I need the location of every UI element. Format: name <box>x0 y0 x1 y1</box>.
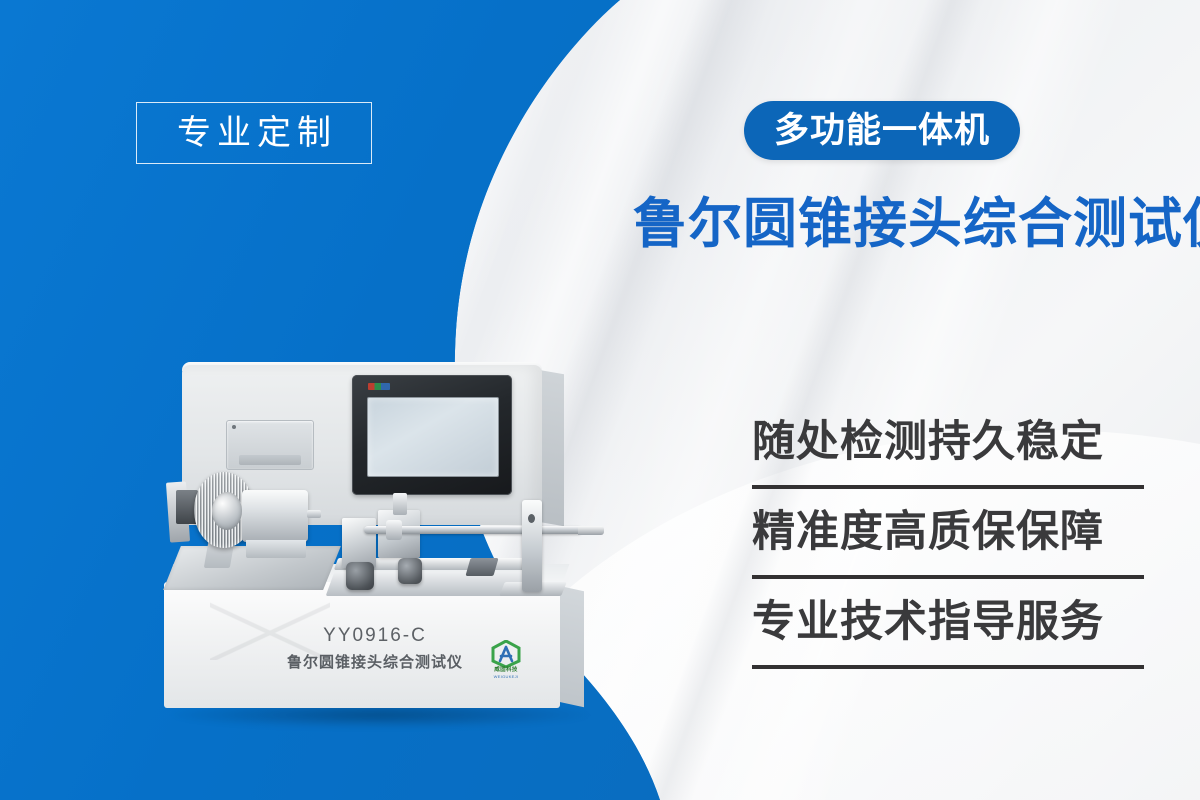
feature-item-label: 精准度高质保保障 <box>752 511 1104 554</box>
feature-list: 随处检测持久稳定 精准度高质保保障 专业技术指导服务 <box>752 399 1144 669</box>
feature-item-label: 随处检测持久稳定 <box>752 421 1104 464</box>
brand-logo-en-label: WEIGUKEJI <box>486 675 526 679</box>
page-title: 鲁尔圆锥接头综合测试仪 <box>633 196 1200 253</box>
dial-hub <box>212 492 242 530</box>
shaft-collar <box>386 520 402 540</box>
product-model-name: 鲁尔圆锥接头综合测试仪 <box>245 655 505 670</box>
clamp-post <box>393 493 407 515</box>
multifunction-pill-label: 多功能一体机 <box>774 113 990 148</box>
custom-made-badge-label: 专业定制 <box>171 116 337 150</box>
feature-item: 随处检测持久稳定 <box>752 399 1144 489</box>
slider-block <box>465 558 498 576</box>
motor-housing <box>242 490 308 542</box>
product-image: YY0916-C 鲁尔圆锥接头综合测试仪 威固科技 WEIGUKEJI <box>150 350 690 770</box>
hmi-screen-display <box>367 397 499 477</box>
brand-logo-cn-label: 威固科技 <box>486 668 526 674</box>
multifunction-pill-badge: 多功能一体机 <box>744 101 1020 160</box>
motor-mount-leg <box>246 540 306 558</box>
clamp-knob-left <box>346 562 374 590</box>
hmi-touchscreen <box>352 375 512 495</box>
product-model-code: YY0916-C <box>250 626 500 645</box>
brand-logo: 威固科技 WEIGUKEJI <box>486 640 526 684</box>
hexagon-logo-icon <box>490 640 522 668</box>
hmi-brand-logo-icon <box>368 383 390 390</box>
shaft-tip <box>578 526 604 535</box>
panel-door <box>226 420 314 470</box>
panel-indicator-dot <box>232 425 236 429</box>
product-promo-banner: 专业定制 多功能一体机 鲁尔圆锥接头综合测试仪 随处检测持久稳定 精准度高质保保… <box>0 0 1200 800</box>
feature-item: 专业技术指导服务 <box>752 579 1144 669</box>
feature-item-label: 专业技术指导服务 <box>752 601 1104 644</box>
clamp-knob-right <box>398 558 422 584</box>
right-bracket-hole <box>528 514 535 523</box>
custom-made-badge: 专业定制 <box>136 102 372 164</box>
motor-shaft <box>307 510 321 518</box>
feature-item: 精准度高质保保障 <box>752 489 1144 579</box>
